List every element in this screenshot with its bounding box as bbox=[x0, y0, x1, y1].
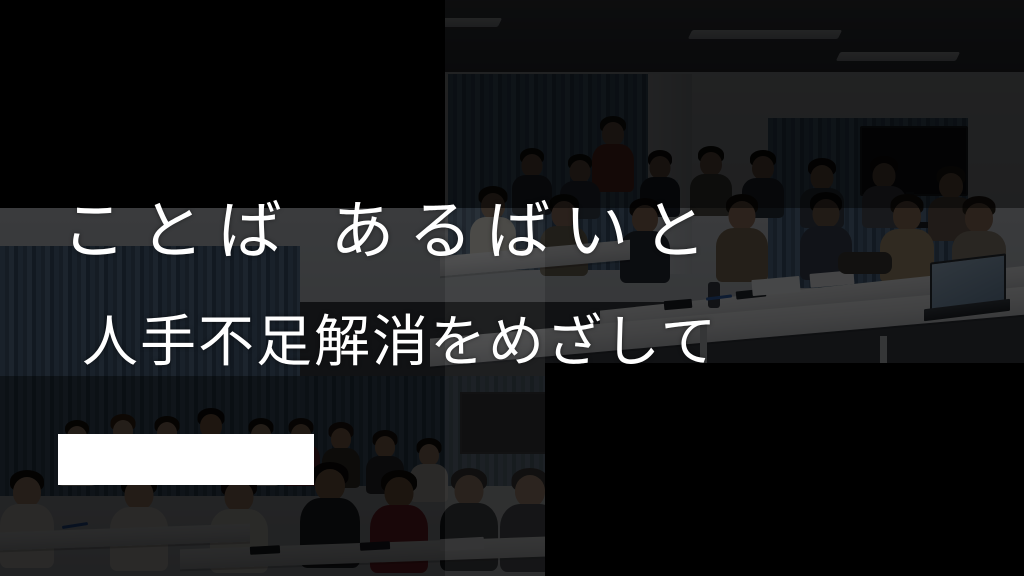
ceiling-light bbox=[836, 52, 960, 61]
smartphone bbox=[360, 541, 390, 551]
paper bbox=[440, 537, 485, 551]
person bbox=[0, 472, 54, 568]
page-subtitle: 人手不足解消をめざして bbox=[82, 306, 982, 380]
black-mask-bottom-right bbox=[545, 363, 1024, 576]
page-title: ことば あるばいと bbox=[62, 184, 982, 280]
title-card-slide: ことば あるばいと 人手不足解消をめざして bbox=[0, 0, 1024, 576]
redaction-box bbox=[58, 434, 314, 485]
ceiling-light bbox=[688, 30, 842, 39]
person bbox=[110, 474, 168, 570]
black-mask-top-left bbox=[0, 0, 445, 208]
smartphone bbox=[250, 545, 280, 555]
